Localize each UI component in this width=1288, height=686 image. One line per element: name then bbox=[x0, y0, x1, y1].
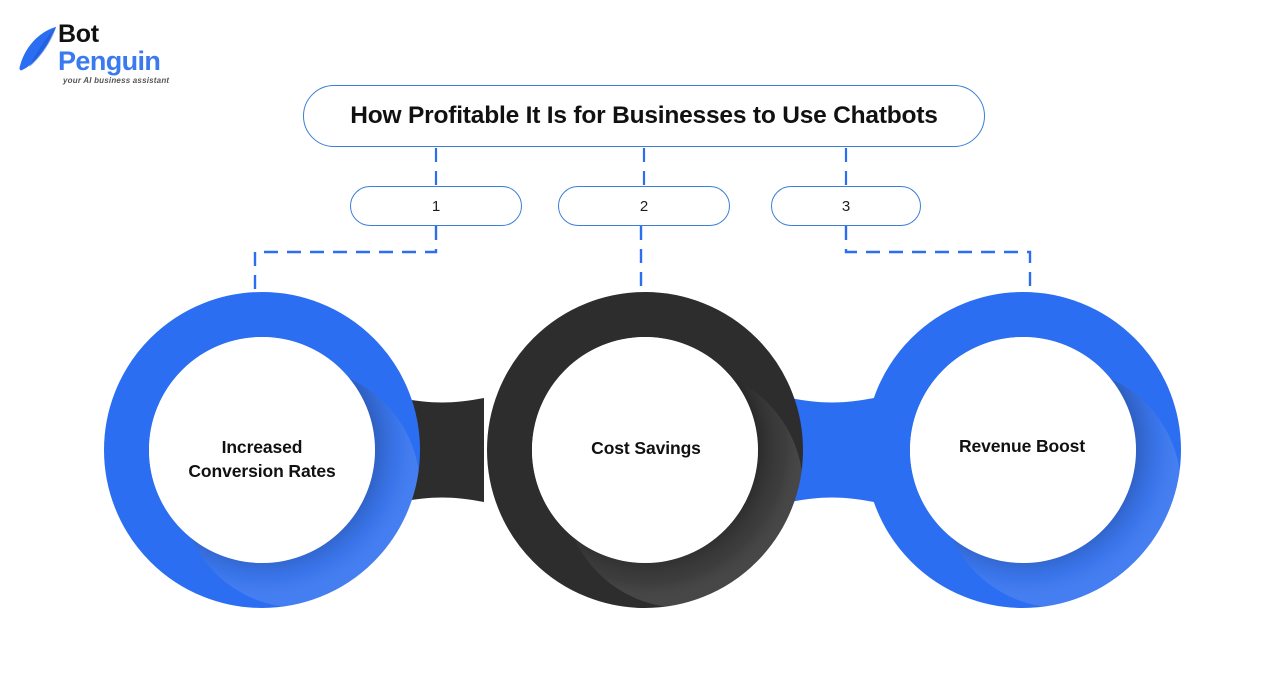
ring-label-revenue-boost: Revenue Boost bbox=[902, 434, 1142, 458]
ring-diagram bbox=[0, 0, 1288, 686]
ring-label-cost-savings: Cost Savings bbox=[526, 436, 766, 460]
ring-label-increased-conversion-rates: Increased Conversion Rates bbox=[142, 435, 382, 483]
ring-cost-savings bbox=[510, 315, 804, 609]
ring-revenue-boost bbox=[888, 315, 1182, 609]
